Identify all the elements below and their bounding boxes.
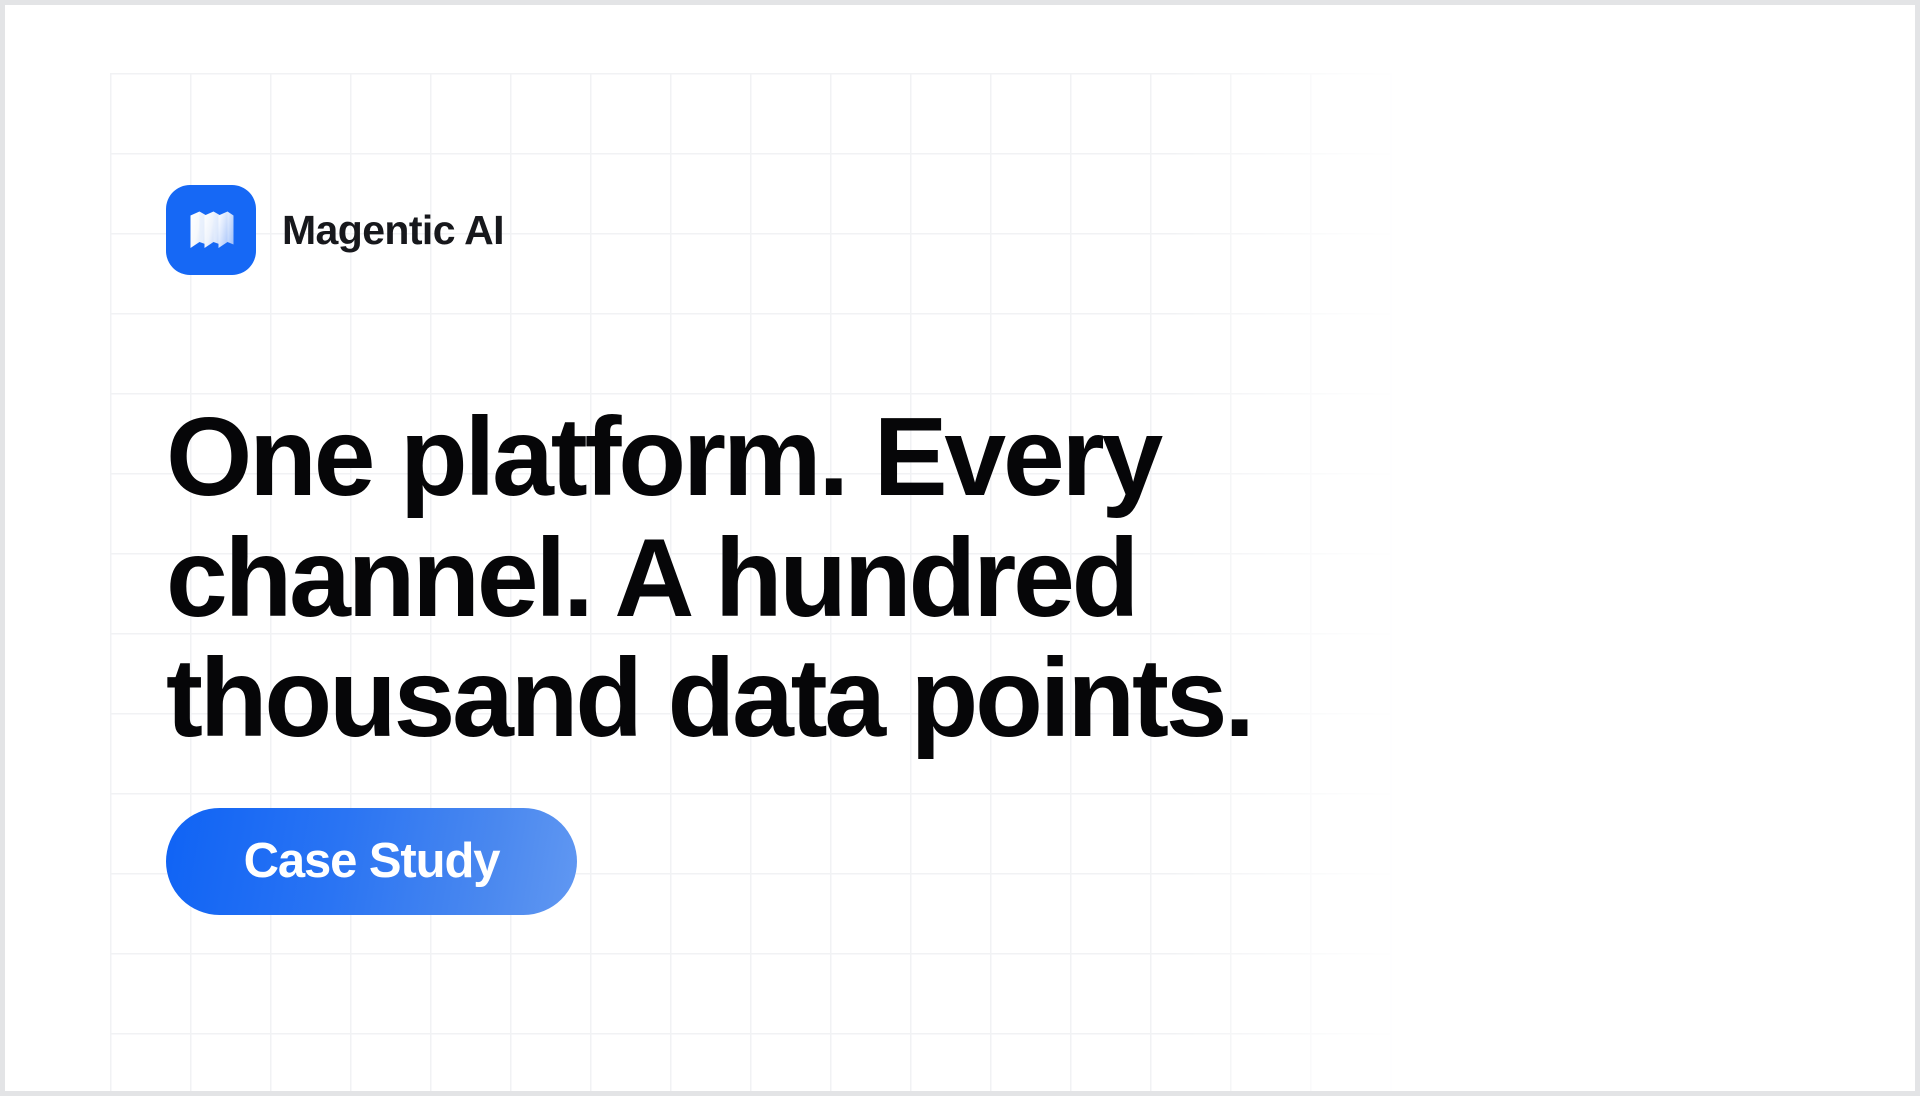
brand-name: Magentic AI bbox=[282, 207, 504, 254]
case-study-badge[interactable]: Case Study bbox=[166, 808, 577, 915]
magentic-logo-tile bbox=[166, 185, 256, 275]
case-study-badge-label: Case Study bbox=[244, 837, 500, 886]
brand-lockup: Magentic AI bbox=[166, 185, 504, 275]
magentic-pages-logo-icon bbox=[183, 202, 239, 258]
headline-line-3: thousand data points. bbox=[166, 638, 1346, 758]
headline-line-2: channel. A hundred bbox=[166, 518, 1346, 638]
page-title: One platform. Every channel. A hundred t… bbox=[166, 397, 1346, 758]
case-study-card: Magentic AI One platform. Every channel.… bbox=[0, 0, 1920, 1096]
headline-line-1: One platform. Every bbox=[166, 397, 1346, 517]
